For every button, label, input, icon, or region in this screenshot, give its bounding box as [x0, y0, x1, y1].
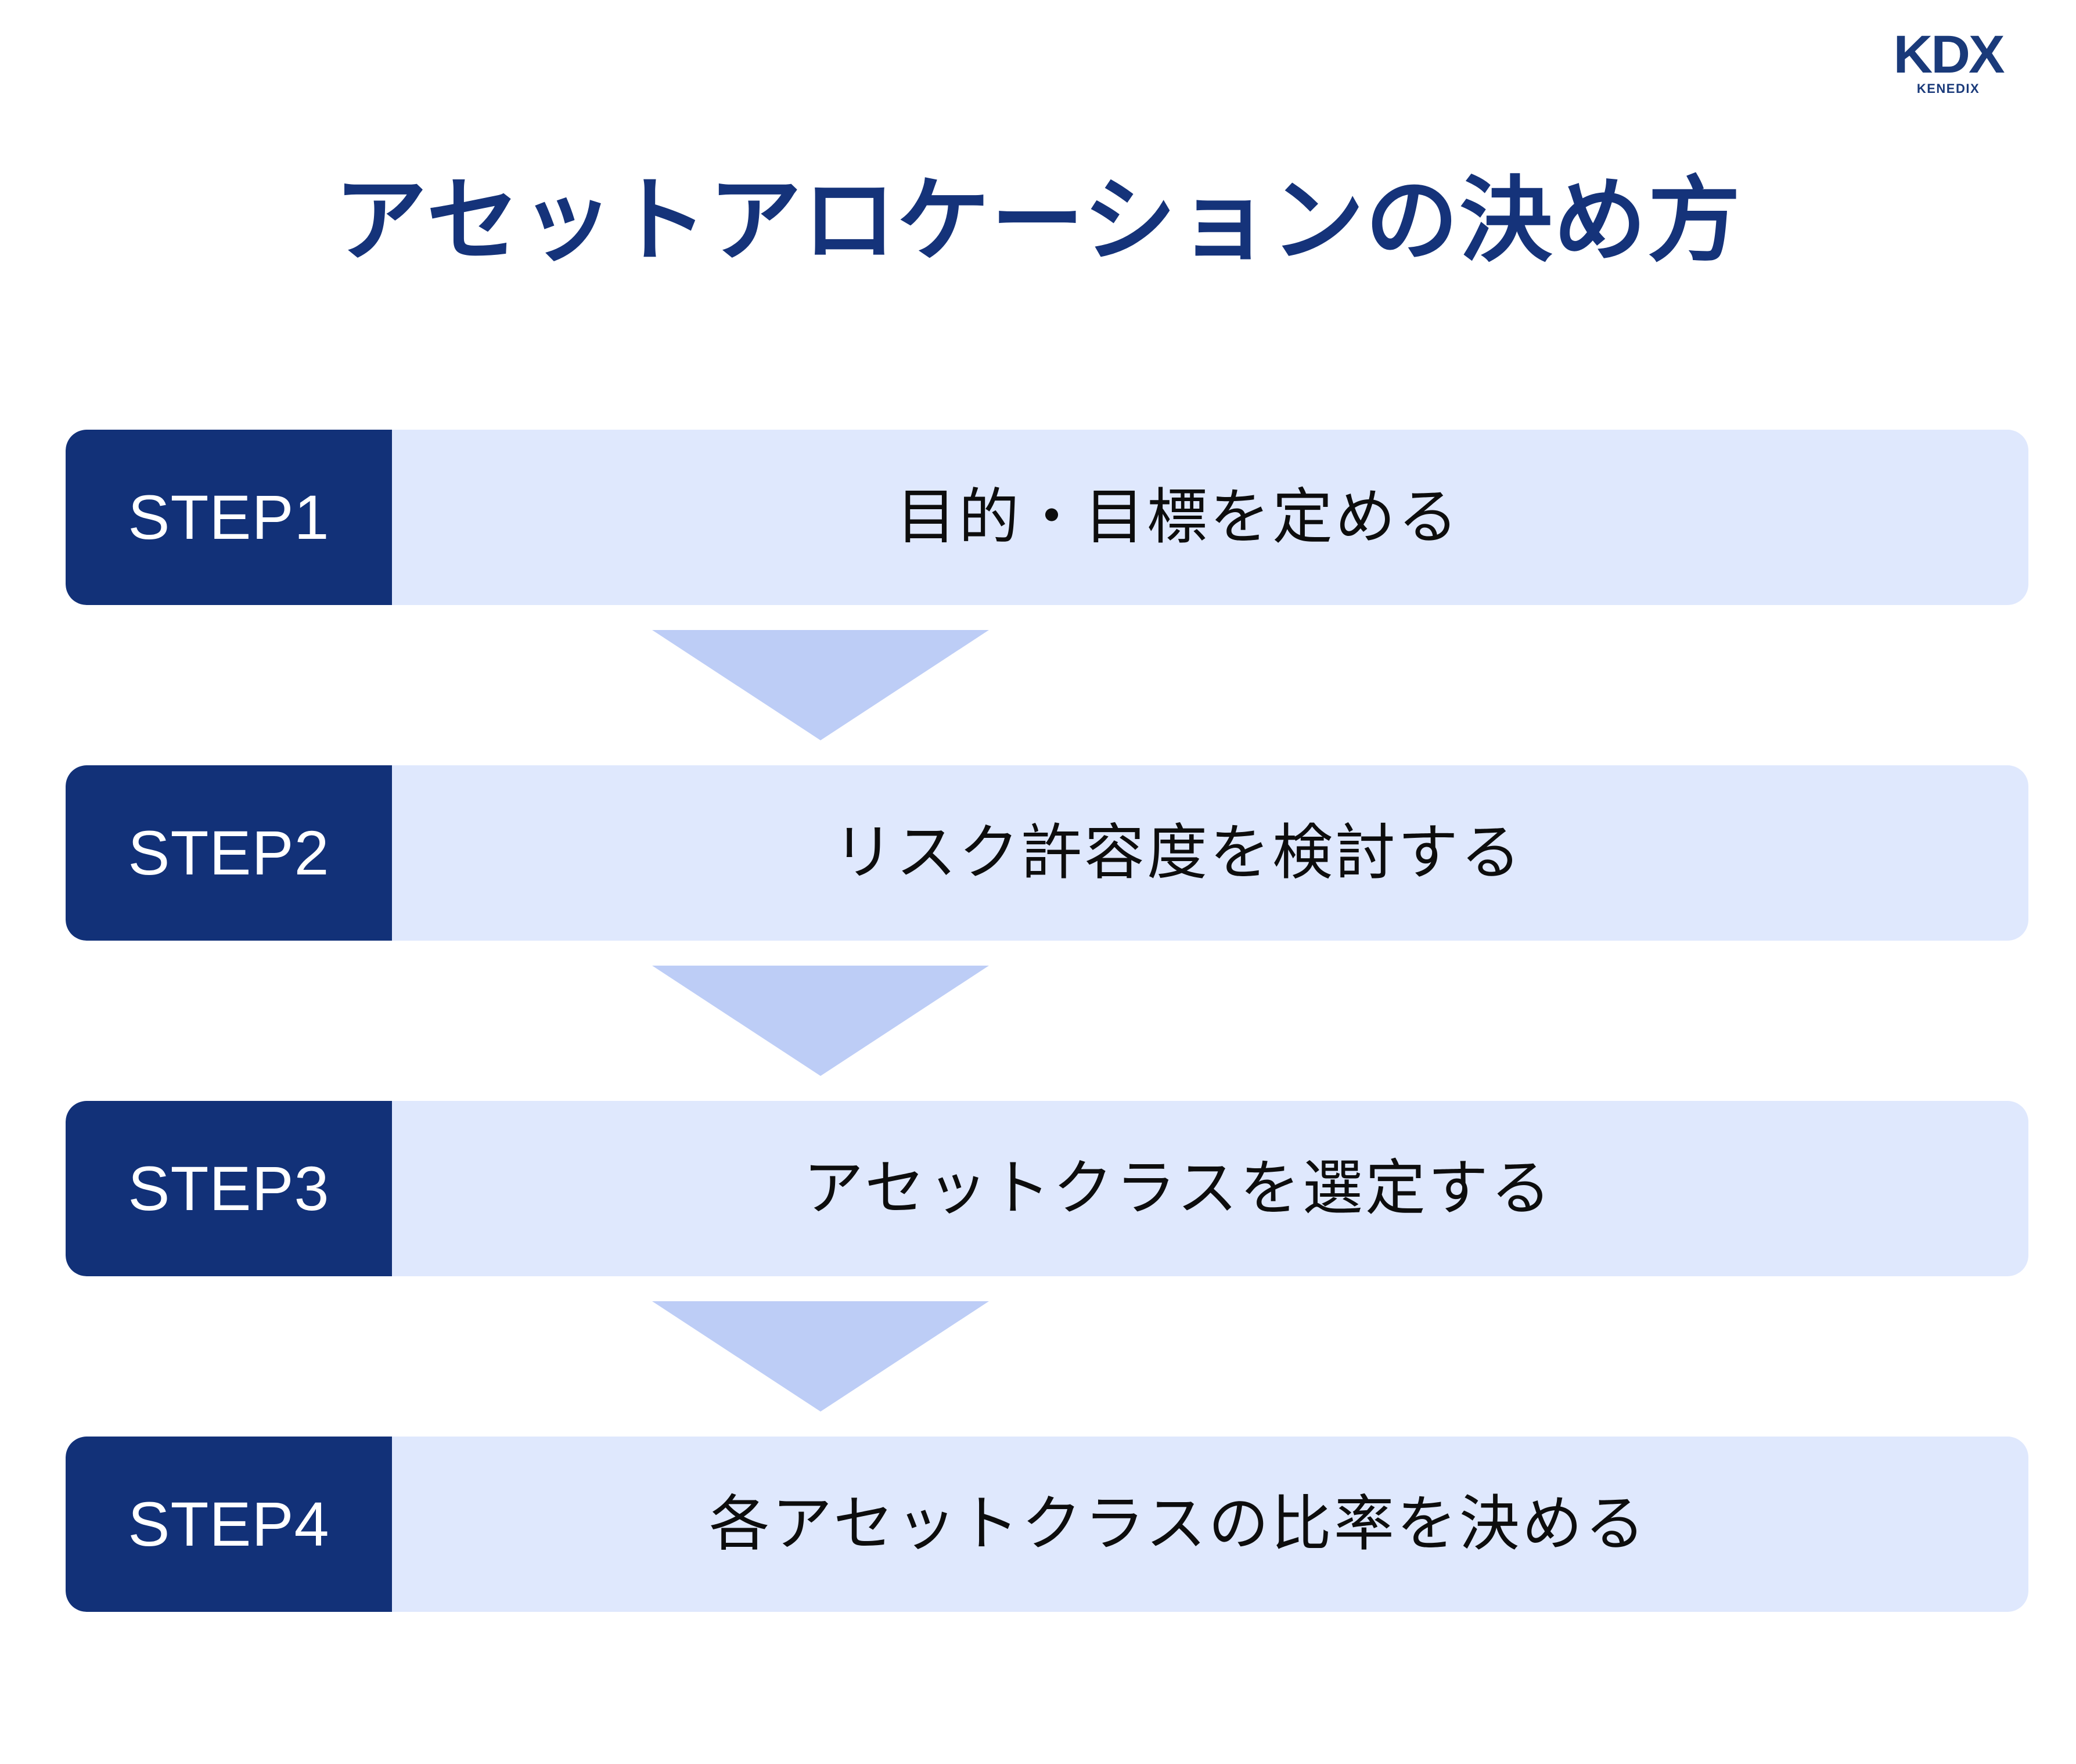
- logo-kdx-text: KDX: [1874, 28, 2023, 81]
- arrow-step2-to-step3: [66, 941, 2028, 1101]
- step-body-4: 各アセットクラスの比率を決める: [392, 1437, 2028, 1612]
- step-flow-diagram: STEP1 目的・目標を定める STEP2 リスク許容度を検討する STEP3 …: [66, 430, 2028, 1612]
- step-row-2: STEP2 リスク許容度を検討する: [66, 765, 2028, 941]
- step-badge-3: STEP3: [66, 1101, 392, 1276]
- chevron-down-icon: [652, 1301, 989, 1412]
- step-badge-label-2: STEP2: [128, 822, 329, 884]
- step-text-4: 各アセットクラスの比率を決める: [709, 1494, 1647, 1554]
- step-badge-label-3: STEP3: [128, 1157, 329, 1220]
- logo-kenedix-text: KENEDIX: [1876, 82, 2021, 95]
- page-title: アセットアロケーションの決め方: [0, 167, 2076, 274]
- step-badge-label-4: STEP4: [128, 1493, 329, 1556]
- step-row-3: STEP3 アセットクラスを選定する: [66, 1101, 2028, 1276]
- step-text-2: リスク許容度を検討する: [833, 823, 1523, 883]
- step-badge-2: STEP2: [66, 765, 392, 941]
- step-body-2: リスク許容度を検討する: [392, 765, 2028, 941]
- step-body-3: アセットクラスを選定する: [392, 1101, 2028, 1276]
- step-badge-label-1: STEP1: [128, 486, 329, 549]
- step-badge-1: STEP1: [66, 430, 392, 605]
- chevron-down-icon: [652, 966, 989, 1076]
- step-row-4: STEP4 各アセットクラスの比率を決める: [66, 1437, 2028, 1612]
- step-text-3: アセットクラスを選定する: [803, 1158, 1553, 1219]
- step-text-1: 目的・目標を定める: [896, 487, 1460, 548]
- arrow-step1-to-step2: [66, 605, 2028, 765]
- chevron-down-icon: [652, 630, 989, 740]
- step-badge-4: STEP4: [66, 1437, 392, 1612]
- arrow-step3-to-step4: [66, 1276, 2028, 1437]
- step-body-1: 目的・目標を定める: [392, 430, 2028, 605]
- step-row-1: STEP1 目的・目標を定める: [66, 430, 2028, 605]
- kdx-logo: KDX KENEDIX: [1876, 28, 2021, 95]
